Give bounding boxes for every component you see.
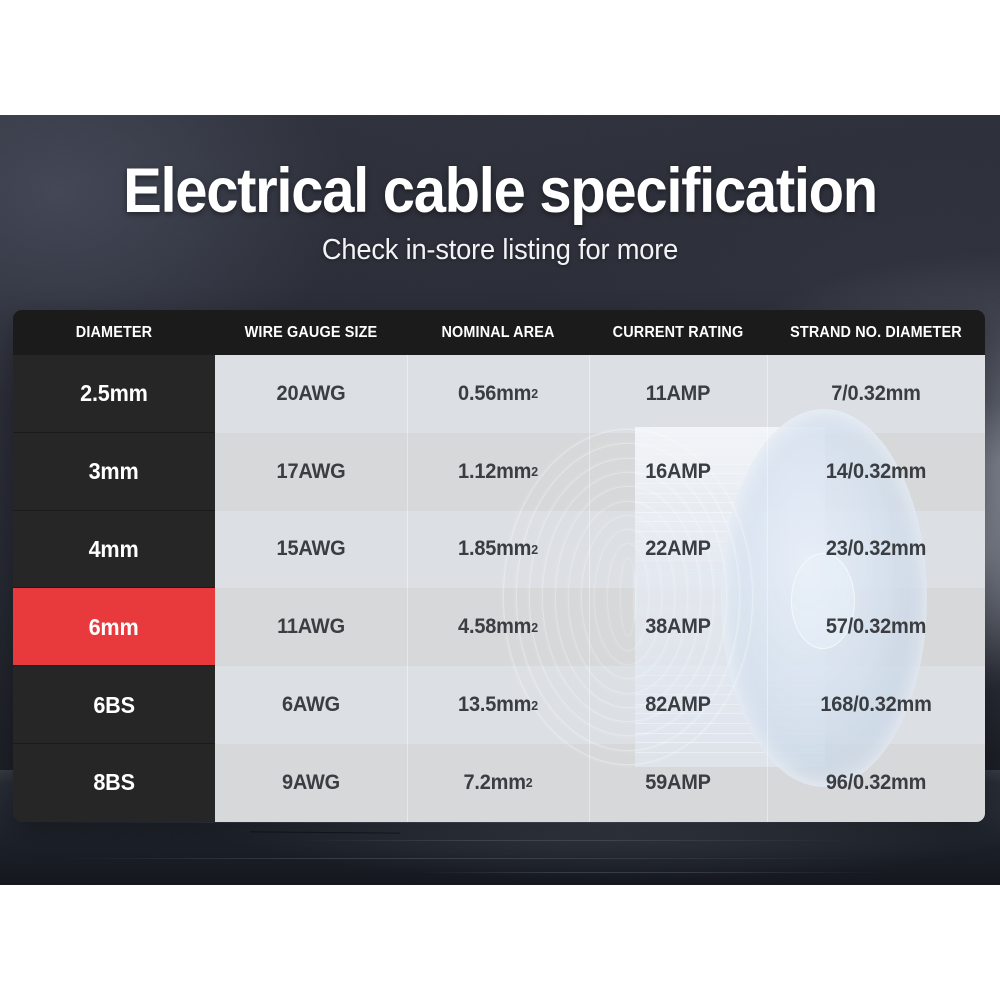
strand-no-diameter-cell: 168/0.32mm bbox=[772, 666, 979, 744]
nominal-area-exponent: 2 bbox=[531, 620, 538, 635]
diameter-cell[interactable]: 3mm bbox=[13, 433, 215, 511]
column-header-current-rating[interactable]: CURRENT RATING bbox=[595, 310, 761, 355]
nominal-area-cell: 0.56mm2 bbox=[412, 355, 585, 433]
nominal-area-cell: 1.85mm2 bbox=[412, 511, 585, 589]
nominal-area-exponent: 2 bbox=[531, 464, 538, 479]
page-subtitle: Check in-store listing for more bbox=[30, 234, 970, 267]
row-divider bbox=[13, 432, 215, 433]
row-divider bbox=[13, 587, 215, 588]
wire-gauge-size-cell: 11AWG bbox=[220, 588, 402, 666]
current-rating-cell: 11AMP bbox=[593, 355, 762, 433]
diameter-label: 6mm bbox=[89, 614, 139, 641]
nominal-area-value: 13.5mm bbox=[458, 693, 531, 717]
nominal-area-cell: 13.5mm2 bbox=[412, 666, 585, 744]
column-header-wire-gauge-size[interactable]: WIRE GAUGE SIZE bbox=[222, 310, 401, 355]
spec-table-first-column: 2.5mm3mm4mm6mm6BS8BS bbox=[13, 355, 215, 822]
diameter-label: 3mm bbox=[89, 458, 139, 485]
current-rating-cell: 38AMP bbox=[593, 588, 762, 666]
row-divider bbox=[13, 743, 215, 744]
nominal-area-cell: 4.58mm2 bbox=[412, 588, 585, 666]
strand-no-diameter-cell: 57/0.32mm bbox=[772, 588, 979, 666]
diameter-label: 2.5mm bbox=[80, 380, 148, 407]
nominal-area-value: 1.12mm bbox=[458, 460, 531, 484]
diameter-cell-selected[interactable]: 6mm bbox=[13, 588, 215, 666]
nominal-area-value: 1.85mm bbox=[458, 537, 531, 561]
current-rating-cell: 82AMP bbox=[593, 666, 762, 744]
wire-gauge-size-cell: 6AWG bbox=[220, 666, 402, 744]
nominal-area-exponent: 2 bbox=[531, 386, 538, 401]
strand-no-diameter-cell: 14/0.32mm bbox=[772, 433, 979, 511]
nominal-area-exponent: 2 bbox=[531, 542, 538, 557]
diameter-label: 4mm bbox=[89, 536, 139, 563]
wire-gauge-size-cell: 15AWG bbox=[220, 511, 402, 589]
row-divider bbox=[13, 665, 215, 666]
nominal-area-cell: 1.12mm2 bbox=[412, 433, 585, 511]
nominal-area-cell: 7.2mm2 bbox=[412, 744, 585, 822]
spec-table: 2.5mm3mm4mm6mm6BS8BS 20AWG0.56mm211AMP7/… bbox=[13, 310, 985, 822]
nominal-area-value: 7.2mm bbox=[464, 771, 526, 795]
strand-no-diameter-cell: 7/0.32mm bbox=[772, 355, 979, 433]
column-header-strand-no-diameter[interactable]: STRAND NO. DIAMETER bbox=[775, 310, 978, 355]
diameter-cell[interactable]: 4mm bbox=[13, 511, 215, 589]
diameter-cell[interactable]: 2.5mm bbox=[13, 355, 215, 433]
product-spec-banner: Electrical cable specification Check in-… bbox=[0, 0, 1000, 1000]
nominal-area-value: 4.58mm bbox=[458, 615, 531, 639]
column-seam bbox=[767, 355, 768, 822]
wire-gauge-size-cell: 20AWG bbox=[220, 355, 402, 433]
column-header-diameter[interactable]: DIAMETER bbox=[20, 310, 208, 355]
row-divider bbox=[13, 510, 215, 511]
wire-gauge-size-cell: 9AWG bbox=[220, 744, 402, 822]
nominal-area-value: 0.56mm bbox=[458, 382, 531, 406]
wire-gauge-size-cell: 17AWG bbox=[220, 433, 402, 511]
nominal-area-exponent: 2 bbox=[526, 775, 533, 790]
current-rating-cell: 16AMP bbox=[593, 433, 762, 511]
nominal-area-exponent: 2 bbox=[531, 698, 538, 713]
page-title: Electrical cable specification bbox=[40, 160, 960, 223]
current-rating-cell: 22AMP bbox=[593, 511, 762, 589]
strand-no-diameter-cell: 23/0.32mm bbox=[772, 511, 979, 589]
strand-no-diameter-cell: 96/0.32mm bbox=[772, 744, 979, 822]
diameter-label: 6BS bbox=[93, 692, 135, 719]
column-header-nominal-area[interactable]: NOMINAL AREA bbox=[413, 310, 582, 355]
diameter-label: 8BS bbox=[93, 769, 135, 796]
diameter-cell[interactable]: 6BS bbox=[13, 666, 215, 744]
column-seam bbox=[589, 355, 590, 822]
diameter-cell[interactable]: 8BS bbox=[13, 744, 215, 822]
column-seam bbox=[407, 355, 408, 822]
heading-block: Electrical cable specification Check in-… bbox=[0, 160, 1000, 267]
current-rating-cell: 59AMP bbox=[593, 744, 762, 822]
